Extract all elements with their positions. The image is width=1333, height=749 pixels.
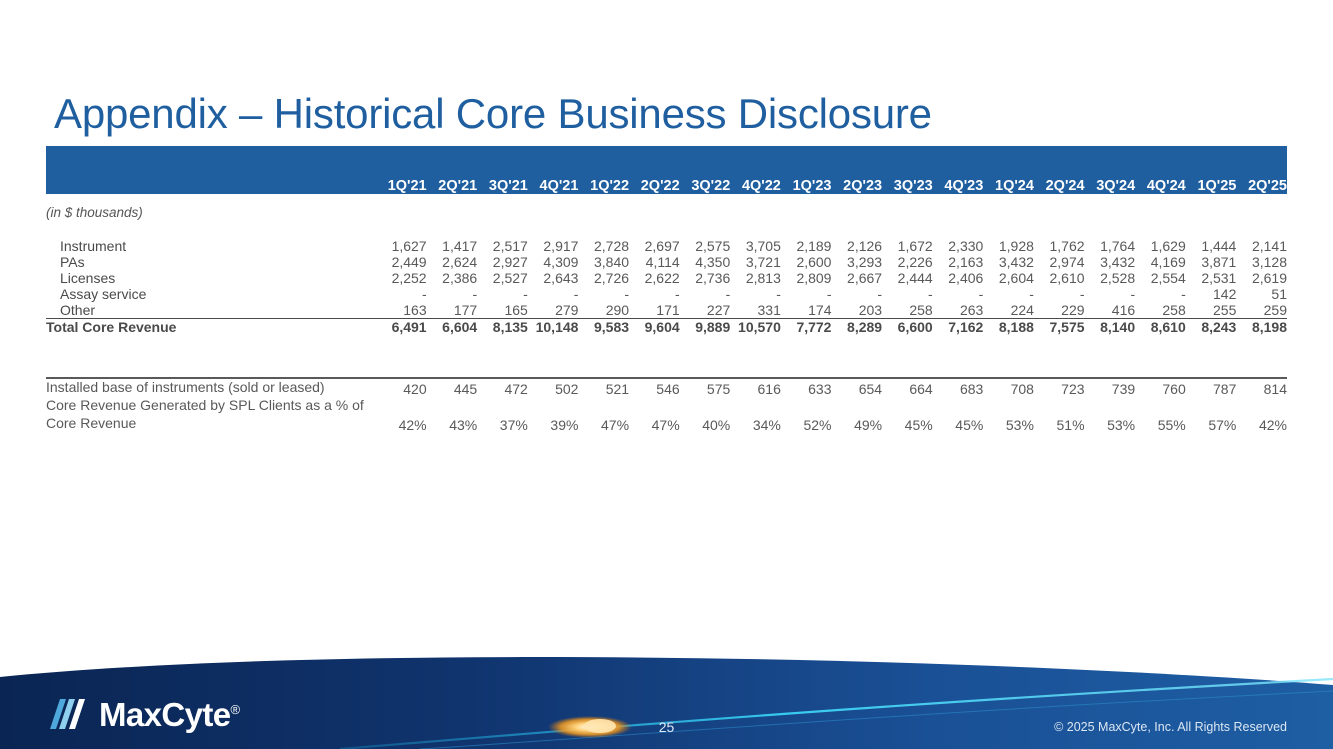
- table-cell: 3,840: [578, 254, 629, 270]
- table-cell: 227: [680, 302, 731, 319]
- table-cell: 203: [831, 302, 882, 319]
- table-cell: 174: [781, 302, 832, 319]
- table-cell: 45%: [933, 397, 984, 433]
- table-cell: 502: [528, 379, 579, 397]
- row-label: Core Revenue Generated by SPL Clients as…: [46, 397, 376, 433]
- table-cell: 51%: [1034, 397, 1085, 433]
- header-label-col: [46, 146, 376, 194]
- row-label: Other: [46, 302, 376, 319]
- table-cell: 258: [882, 302, 933, 319]
- table-cell: 633: [781, 379, 832, 397]
- table-column-header: 1Q'25: [1186, 146, 1237, 194]
- table-cell: -: [528, 286, 579, 302]
- table-cell: 2,622: [629, 270, 680, 286]
- table-cell: 2,728: [578, 238, 629, 254]
- table-column-header: 1Q'24: [983, 146, 1034, 194]
- table-cell: 521: [578, 379, 629, 397]
- table-cell: 171: [629, 302, 680, 319]
- table-cell: 51: [1236, 286, 1287, 302]
- table-cell: 47%: [629, 397, 680, 433]
- row-label: Assay service: [46, 286, 376, 302]
- table-cell: 2,619: [1236, 270, 1287, 286]
- table-cell: -: [1085, 286, 1136, 302]
- table-cell: -: [730, 286, 781, 302]
- table-cell: 2,449: [376, 254, 427, 270]
- table-cell: 2,575: [680, 238, 731, 254]
- table-column-header: 3Q'22: [680, 146, 731, 194]
- table-cell: 55%: [1135, 397, 1186, 433]
- table-cell: 2,517: [477, 238, 528, 254]
- table-cell: 2,736: [680, 270, 731, 286]
- financial-table-container: 1Q'212Q'213Q'214Q'211Q'222Q'223Q'224Q'22…: [46, 146, 1287, 433]
- row-label: Installed base of instruments (sold or l…: [46, 379, 376, 397]
- total-core-revenue-row: Total Core Revenue6,4916,6048,13510,1489…: [46, 319, 1287, 336]
- table-cell: -: [1135, 286, 1186, 302]
- table-column-header: 1Q'22: [578, 146, 629, 194]
- table-cell: 1,629: [1135, 238, 1186, 254]
- table-cell: -: [629, 286, 680, 302]
- row-label: PAs: [46, 254, 376, 270]
- table-cell: 6,491: [376, 319, 427, 336]
- table-cell: 2,624: [427, 254, 478, 270]
- table-cell: -: [781, 286, 832, 302]
- table-cell: 664: [882, 379, 933, 397]
- table-cell: 1,417: [427, 238, 478, 254]
- table-cell: 7,575: [1034, 319, 1085, 336]
- table-cell: 2,610: [1034, 270, 1085, 286]
- table-cell: 2,252: [376, 270, 427, 286]
- table-column-header: 2Q'21: [427, 146, 478, 194]
- table-cell: 2,974: [1034, 254, 1085, 270]
- table-cell: 2,809: [781, 270, 832, 286]
- table-cell: 9,583: [578, 319, 629, 336]
- table-cell: 1,928: [983, 238, 1034, 254]
- table-cell: 683: [933, 379, 984, 397]
- table-cell: 6,600: [882, 319, 933, 336]
- table-cell: 229: [1034, 302, 1085, 319]
- table-cell: 259: [1236, 302, 1287, 319]
- table-cell: 8,188: [983, 319, 1034, 336]
- table-cell: 575: [680, 379, 731, 397]
- table-cell: 2,600: [781, 254, 832, 270]
- table-cell: 8,135: [477, 319, 528, 336]
- table-cell: 739: [1085, 379, 1136, 397]
- table-cell: -: [1034, 286, 1085, 302]
- table-cell: 47%: [578, 397, 629, 433]
- table-cell: 224: [983, 302, 1034, 319]
- table-cell: 9,604: [629, 319, 680, 336]
- table-column-header: 3Q'24: [1085, 146, 1136, 194]
- units-note: (in $ thousands): [46, 194, 1287, 220]
- table-cell: 2,917: [528, 238, 579, 254]
- table-cell: 420: [376, 379, 427, 397]
- financial-table: 1Q'212Q'213Q'214Q'211Q'222Q'223Q'224Q'22…: [46, 146, 1287, 433]
- section-divider-row: [46, 335, 1287, 379]
- table-cell: 165: [477, 302, 528, 319]
- table-cell: 2,697: [629, 238, 680, 254]
- table-cell: 723: [1034, 379, 1085, 397]
- copyright-notice: © 2025 MaxCyte, Inc. All Rights Reserved: [1054, 720, 1287, 734]
- table-cell: 4,350: [680, 254, 731, 270]
- table-cell: 3,128: [1236, 254, 1287, 270]
- table-cell: 3,293: [831, 254, 882, 270]
- metric-row: Installed base of instruments (sold or l…: [46, 379, 1287, 397]
- table-cell: 1,444: [1186, 238, 1237, 254]
- table-cell: 4,309: [528, 254, 579, 270]
- table-cell: 2,554: [1135, 270, 1186, 286]
- table-cell: 546: [629, 379, 680, 397]
- table-cell: 2,643: [528, 270, 579, 286]
- slide-footer: MaxCyte® 25 © 2025 MaxCyte, Inc. All Rig…: [0, 655, 1333, 749]
- table-cell: 2,927: [477, 254, 528, 270]
- table-cell: 4,169: [1135, 254, 1186, 270]
- table-cell: -: [680, 286, 731, 302]
- row-label: Instrument: [46, 238, 376, 254]
- table-cell: 8,289: [831, 319, 882, 336]
- table-cell: 3,432: [983, 254, 1034, 270]
- table-cell: 1,627: [376, 238, 427, 254]
- table-header-row: 1Q'212Q'213Q'214Q'211Q'222Q'223Q'224Q'22…: [46, 146, 1287, 194]
- table-cell: 9,889: [680, 319, 731, 336]
- table-cell: 7,162: [933, 319, 984, 336]
- table-cell: 3,432: [1085, 254, 1136, 270]
- table-column-header: 1Q'23: [781, 146, 832, 194]
- table-cell: 279: [528, 302, 579, 319]
- table-row: Other16317716527929017122733117420325826…: [46, 302, 1287, 319]
- table-cell: 2,531: [1186, 270, 1237, 286]
- table-cell: 6,604: [427, 319, 478, 336]
- table-cell: 331: [730, 302, 781, 319]
- table-cell: 10,570: [730, 319, 781, 336]
- table-cell: 142: [1186, 286, 1237, 302]
- table-cell: 760: [1135, 379, 1186, 397]
- table-cell: 53%: [1085, 397, 1136, 433]
- table-cell: 3,721: [730, 254, 781, 270]
- table-cell: 37%: [477, 397, 528, 433]
- table-cell: 616: [730, 379, 781, 397]
- table-column-header: 2Q'25: [1236, 146, 1287, 194]
- table-cell: -: [578, 286, 629, 302]
- table-cell: 2,604: [983, 270, 1034, 286]
- table-cell: 42%: [1236, 397, 1287, 433]
- table-cell: 290: [578, 302, 629, 319]
- table-cell: -: [427, 286, 478, 302]
- table-cell: 787: [1186, 379, 1237, 397]
- spacer-row: [46, 220, 1287, 238]
- table-cell: 2,667: [831, 270, 882, 286]
- table-cell: 8,610: [1135, 319, 1186, 336]
- table-cell: 2,528: [1085, 270, 1136, 286]
- table-cell: 163: [376, 302, 427, 319]
- table-cell: 1,672: [882, 238, 933, 254]
- table-row: Assay service----------------14251: [46, 286, 1287, 302]
- table-cell: 49%: [831, 397, 882, 433]
- table-cell: -: [831, 286, 882, 302]
- table-cell: 2,444: [882, 270, 933, 286]
- table-cell: 8,198: [1236, 319, 1287, 336]
- table-cell: 445: [427, 379, 478, 397]
- table-cell: 258: [1135, 302, 1186, 319]
- table-row: Licenses2,2522,3862,5272,6432,7262,6222,…: [46, 270, 1287, 286]
- table-cell: 472: [477, 379, 528, 397]
- table-column-header: 2Q'23: [831, 146, 882, 194]
- table-column-header: 4Q'23: [933, 146, 984, 194]
- table-cell: 2,406: [933, 270, 984, 286]
- units-note-row: (in $ thousands): [46, 194, 1287, 220]
- table-cell: 40%: [680, 397, 731, 433]
- table-cell: 57%: [1186, 397, 1237, 433]
- spacer: [46, 220, 1287, 238]
- table-cell: 2,189: [781, 238, 832, 254]
- table-row: Instrument1,6271,4172,5172,9172,7282,697…: [46, 238, 1287, 254]
- row-label: Total Core Revenue: [46, 319, 376, 336]
- table-cell: 43%: [427, 397, 478, 433]
- table-cell: 10,148: [528, 319, 579, 336]
- table-cell: -: [933, 286, 984, 302]
- table-cell: -: [983, 286, 1034, 302]
- table-cell: 3,871: [1186, 254, 1237, 270]
- table-cell: 7,772: [781, 319, 832, 336]
- table-cell: 4,114: [629, 254, 680, 270]
- registered-trademark-icon: ®: [231, 702, 240, 717]
- table-cell: 2,386: [427, 270, 478, 286]
- table-cell: 3,705: [730, 238, 781, 254]
- table-cell: 2,813: [730, 270, 781, 286]
- table-column-header: 2Q'24: [1034, 146, 1085, 194]
- table-cell: 2,330: [933, 238, 984, 254]
- table-column-header: 4Q'22: [730, 146, 781, 194]
- table-cell: 8,243: [1186, 319, 1237, 336]
- table-cell: 53%: [983, 397, 1034, 433]
- table-cell: 2,527: [477, 270, 528, 286]
- table-cell: 39%: [528, 397, 579, 433]
- table-cell: -: [882, 286, 933, 302]
- table-column-header: 3Q'21: [477, 146, 528, 194]
- table-cell: 52%: [781, 397, 832, 433]
- table-cell: 34%: [730, 397, 781, 433]
- table-cell: -: [376, 286, 427, 302]
- section-divider: [46, 335, 1287, 379]
- table-cell: 255: [1186, 302, 1237, 319]
- table-cell: 263: [933, 302, 984, 319]
- table-cell: 2,226: [882, 254, 933, 270]
- table-row: PAs2,4492,6242,9274,3093,8404,1144,3503,…: [46, 254, 1287, 270]
- table-column-header: 3Q'23: [882, 146, 933, 194]
- table-cell: -: [477, 286, 528, 302]
- table-cell: 2,141: [1236, 238, 1287, 254]
- page-title: Appendix – Historical Core Business Disc…: [54, 90, 932, 138]
- table-cell: 2,726: [578, 270, 629, 286]
- table-cell: 416: [1085, 302, 1136, 319]
- metric-row: Core Revenue Generated by SPL Clients as…: [46, 397, 1287, 433]
- table-cell: 42%: [376, 397, 427, 433]
- table-cell: 654: [831, 379, 882, 397]
- table-cell: 8,140: [1085, 319, 1136, 336]
- table-column-header: 4Q'21: [528, 146, 579, 194]
- table-cell: 45%: [882, 397, 933, 433]
- table-cell: 1,764: [1085, 238, 1136, 254]
- table-column-header: 4Q'24: [1135, 146, 1186, 194]
- table-column-header: 1Q'21: [376, 146, 427, 194]
- table-cell: 177: [427, 302, 478, 319]
- table-column-header: 2Q'22: [629, 146, 680, 194]
- slide: Appendix – Historical Core Business Disc…: [0, 0, 1333, 749]
- table-cell: 2,163: [933, 254, 984, 270]
- table-cell: 814: [1236, 379, 1287, 397]
- table-cell: 2,126: [831, 238, 882, 254]
- table-cell: 1,762: [1034, 238, 1085, 254]
- row-label: Licenses: [46, 270, 376, 286]
- table-cell: 708: [983, 379, 1034, 397]
